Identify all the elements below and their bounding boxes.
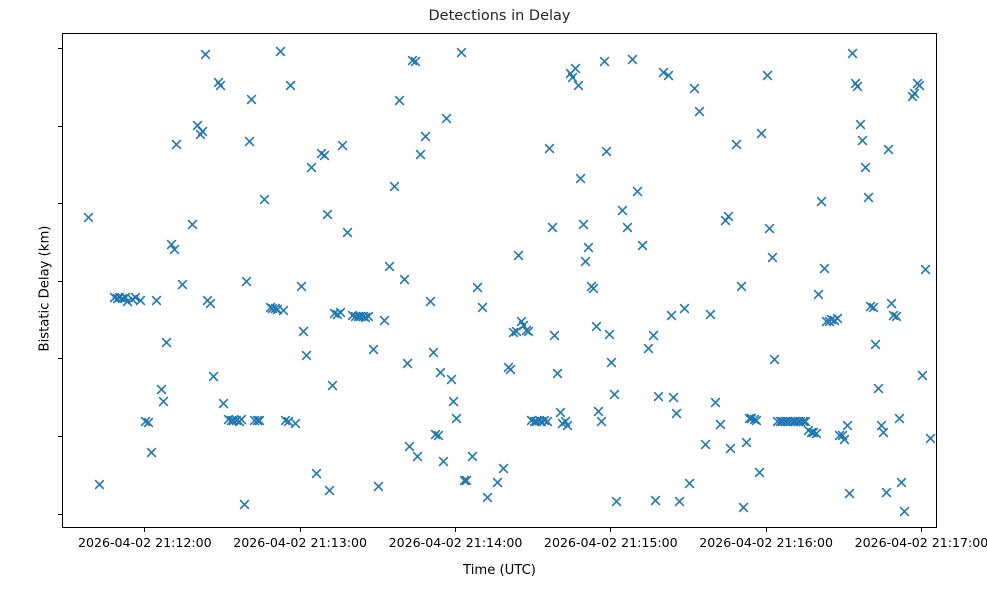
data-point [599, 56, 610, 67]
data-point [355, 311, 366, 322]
data-point [267, 303, 278, 314]
data-point [588, 283, 599, 294]
data-point [508, 327, 519, 338]
data-point [451, 413, 462, 424]
data-point [120, 292, 131, 303]
data-point [208, 371, 219, 382]
page-title: Detections in Delay [62, 8, 937, 24]
data-point [236, 414, 247, 425]
data-point [379, 315, 390, 326]
data-point [280, 415, 291, 426]
data-point [847, 48, 858, 59]
data-point [715, 419, 726, 430]
data-point [583, 242, 594, 253]
data-point [529, 416, 540, 427]
data-point [914, 80, 925, 91]
data-point [565, 68, 576, 79]
data-point [637, 240, 648, 251]
data-point [596, 416, 607, 427]
data-point [94, 479, 105, 490]
data-point [844, 488, 855, 499]
data-point [857, 135, 868, 146]
data-point [754, 467, 765, 478]
data-point [244, 136, 255, 147]
data-point [503, 362, 514, 373]
data-point [834, 430, 845, 441]
data-point [860, 162, 871, 173]
data-point [917, 370, 928, 381]
data-point [505, 364, 516, 375]
data-point [335, 307, 346, 318]
data-point [609, 389, 620, 400]
data-point [438, 456, 449, 467]
data-point [218, 398, 229, 409]
data-point [394, 95, 405, 106]
data-point [259, 194, 270, 205]
data-point [852, 81, 863, 92]
data-point [749, 414, 760, 425]
data-point [684, 478, 695, 489]
x-tick-mark [300, 528, 301, 532]
data-point [575, 173, 586, 184]
data-point [283, 416, 294, 427]
data-point [617, 205, 628, 216]
data-point [542, 416, 553, 427]
data-point [865, 301, 876, 312]
data-point [573, 80, 584, 91]
data-point [894, 413, 905, 424]
data-point [531, 416, 542, 427]
data-point [806, 427, 817, 438]
data-point [668, 392, 679, 403]
data-point [876, 420, 887, 431]
y-axis-label: Bistatic Delay (km) [38, 209, 53, 369]
data-point [441, 113, 452, 124]
data-point [850, 78, 861, 89]
data-point [435, 367, 446, 378]
data-point [560, 416, 571, 427]
data-point [135, 295, 146, 306]
data-point [888, 310, 899, 321]
data-point [705, 309, 716, 320]
data-point [746, 413, 757, 424]
data-point [736, 281, 747, 292]
data-point [816, 196, 827, 207]
data-point [772, 416, 783, 427]
data-point [562, 420, 573, 431]
data-point [907, 91, 918, 102]
data-point [782, 416, 793, 427]
data-point [788, 416, 799, 427]
data-point [586, 281, 597, 292]
data-point [192, 120, 203, 131]
data-point [402, 358, 413, 369]
data-point [578, 219, 589, 230]
data-point [83, 212, 94, 223]
data-point [627, 54, 638, 65]
data-point [653, 391, 664, 402]
data-point [122, 296, 133, 307]
data-point [580, 256, 591, 267]
data-point [270, 303, 281, 314]
data-point [433, 430, 444, 441]
data-point [650, 495, 661, 506]
data-point [254, 415, 265, 426]
data-point [793, 416, 804, 427]
data-point [775, 416, 786, 427]
data-point [798, 416, 809, 427]
data-point [146, 447, 157, 458]
data-point [689, 83, 700, 94]
data-point [399, 274, 410, 285]
data-point [756, 128, 767, 139]
data-point [234, 416, 245, 427]
data-point [187, 219, 198, 230]
data-point [373, 481, 384, 492]
data-point [195, 129, 206, 140]
data-point [231, 415, 242, 426]
data-point [324, 485, 335, 496]
x-tick-label: 2026-04-02 21:16:00 [699, 535, 833, 550]
data-point [151, 295, 162, 306]
x-tick-label: 2026-04-02 21:14:00 [389, 535, 523, 550]
data-point [536, 416, 547, 427]
data-point [829, 315, 840, 326]
data-point [446, 374, 457, 385]
data-point [731, 139, 742, 150]
data-point [601, 146, 612, 157]
data-point [751, 415, 762, 426]
data-point [213, 77, 224, 88]
x-tick-label: 2026-04-02 21:12:00 [78, 535, 212, 550]
data-point [252, 415, 263, 426]
data-point [482, 492, 493, 503]
data-point [899, 506, 910, 517]
matplotlib-figure: Detections in Delay Bistatic Delay (km) … [0, 0, 987, 590]
data-point [811, 428, 822, 439]
data-point [870, 339, 881, 350]
data-point [622, 222, 633, 233]
data-point [205, 298, 216, 309]
data-point [720, 215, 731, 226]
data-point [420, 131, 431, 142]
data-point [516, 316, 527, 327]
data-point [891, 311, 902, 322]
data-point [498, 463, 509, 474]
data-point [112, 293, 123, 304]
data-point [202, 295, 213, 306]
data-point [197, 126, 208, 137]
data-point [347, 310, 358, 321]
data-point [316, 148, 327, 159]
data-point [658, 67, 669, 78]
data-point [350, 311, 361, 322]
data-point [130, 292, 141, 303]
data-point [358, 311, 369, 322]
data-point [842, 420, 853, 431]
data-point [166, 239, 177, 250]
data-point [306, 162, 317, 173]
data-point [723, 211, 734, 222]
data-point [790, 416, 801, 427]
data-point [611, 496, 622, 507]
data-point [881, 487, 892, 498]
x-tick-label: 2026-04-02 21:13:00 [233, 535, 367, 550]
data-point [327, 380, 338, 391]
x-tick-mark [921, 528, 922, 532]
data-point [873, 383, 884, 394]
data-point [389, 181, 400, 192]
data-point [744, 413, 755, 424]
data-point [544, 143, 555, 154]
data-point [329, 308, 340, 319]
data-point [534, 415, 545, 426]
data-point [239, 499, 250, 510]
data-point [246, 94, 257, 105]
data-point [674, 496, 685, 507]
data-point [353, 311, 364, 322]
data-point [404, 441, 415, 452]
data-point [459, 475, 470, 486]
data-point [477, 302, 488, 313]
data-point [332, 309, 343, 320]
x-tick-mark [610, 528, 611, 532]
data-point [410, 56, 421, 67]
data-point [360, 312, 371, 323]
data-point [384, 261, 395, 272]
data-point [878, 427, 889, 438]
data-point [632, 186, 643, 197]
data-point [547, 222, 558, 233]
data-point [467, 451, 478, 462]
data-point [109, 292, 120, 303]
data-point [725, 443, 736, 454]
data-point [593, 406, 604, 417]
data-point [265, 302, 276, 313]
data-point [526, 415, 537, 426]
data-point [430, 429, 441, 440]
data-point [200, 49, 211, 60]
data-point [777, 416, 788, 427]
data-point [767, 252, 778, 263]
data-point [663, 70, 674, 81]
data-point [552, 368, 563, 379]
data-point [114, 292, 125, 303]
data-point [156, 384, 167, 395]
data-point [764, 223, 775, 234]
data-point [555, 407, 566, 418]
data-point [226, 415, 237, 426]
data-point [311, 468, 322, 479]
data-point [863, 192, 874, 203]
data-point [472, 282, 483, 293]
data-point [296, 281, 307, 292]
data-point [298, 326, 309, 337]
data-point [169, 244, 180, 255]
data-point [808, 427, 819, 438]
data-point [567, 72, 578, 83]
data-point [140, 416, 151, 427]
data-point [606, 357, 617, 368]
data-point [241, 276, 252, 287]
data-point [666, 310, 677, 321]
data-point [643, 343, 654, 354]
data-point [456, 47, 467, 58]
data-point [813, 289, 824, 300]
data-point [177, 279, 188, 290]
data-point [741, 437, 752, 448]
data-point [909, 88, 920, 99]
data-point [285, 80, 296, 91]
data-point [824, 316, 835, 327]
data-point [492, 477, 503, 488]
data-point [249, 415, 260, 426]
data-point [363, 311, 374, 322]
data-point [604, 329, 615, 340]
data-point [762, 70, 773, 81]
data-point [127, 294, 138, 305]
data-point [819, 263, 830, 274]
data-point [896, 477, 907, 488]
data-point [671, 408, 682, 419]
data-point [275, 46, 286, 57]
data-point [158, 396, 169, 407]
data-point [319, 150, 330, 161]
data-point [557, 418, 568, 429]
data-point [342, 227, 353, 238]
data-point [700, 439, 711, 450]
data-point [223, 414, 234, 425]
data-point [738, 502, 749, 513]
data-point [513, 250, 524, 261]
data-point [920, 264, 931, 275]
x-tick-mark [144, 528, 145, 532]
data-point [407, 55, 418, 66]
data-point [415, 149, 426, 160]
data-point [694, 106, 705, 117]
data-point [161, 337, 172, 348]
data-point [769, 354, 780, 365]
x-tick-mark [455, 528, 456, 532]
data-point [785, 416, 796, 427]
data-point [448, 396, 459, 407]
data-point [412, 451, 423, 462]
data-point [570, 63, 581, 74]
data-point [228, 415, 239, 426]
data-point [648, 330, 659, 341]
data-point [925, 433, 936, 444]
data-point [215, 80, 226, 91]
data-point [425, 296, 436, 307]
data-point [518, 320, 529, 331]
data-point [780, 416, 791, 427]
x-tick-mark [766, 528, 767, 532]
data-point [821, 316, 832, 327]
data-point [523, 326, 534, 337]
data-point [368, 344, 379, 355]
data-point [117, 293, 128, 304]
data-point [143, 417, 154, 428]
data-point [278, 305, 289, 316]
data-point [322, 209, 333, 220]
data-point [832, 313, 843, 324]
data-point [428, 347, 439, 358]
x-axis-label: Time (UTC) [62, 563, 937, 578]
data-point [549, 330, 560, 341]
data-point [171, 139, 182, 150]
data-point [803, 425, 814, 436]
data-point [679, 303, 690, 314]
x-tick-label: 2026-04-02 21:15:00 [544, 535, 678, 550]
data-point [290, 418, 301, 429]
data-point [337, 140, 348, 151]
x-tick-label: 2026-04-02 21:17:00 [855, 535, 987, 550]
data-point [868, 302, 879, 313]
data-point [837, 430, 848, 441]
scatter-plot-area [62, 33, 937, 528]
data-point [839, 434, 850, 445]
data-point [591, 321, 602, 332]
data-point [521, 325, 532, 336]
data-point [826, 314, 837, 325]
data-point [855, 119, 866, 130]
data-point [800, 416, 811, 427]
data-point [272, 304, 283, 315]
data-point [795, 416, 806, 427]
data-point [710, 397, 721, 408]
data-point [539, 415, 550, 426]
data-point [511, 326, 522, 337]
data-point [883, 144, 894, 155]
data-point [461, 475, 472, 486]
data-point [301, 350, 312, 361]
data-point [886, 298, 897, 309]
data-point [912, 78, 923, 89]
